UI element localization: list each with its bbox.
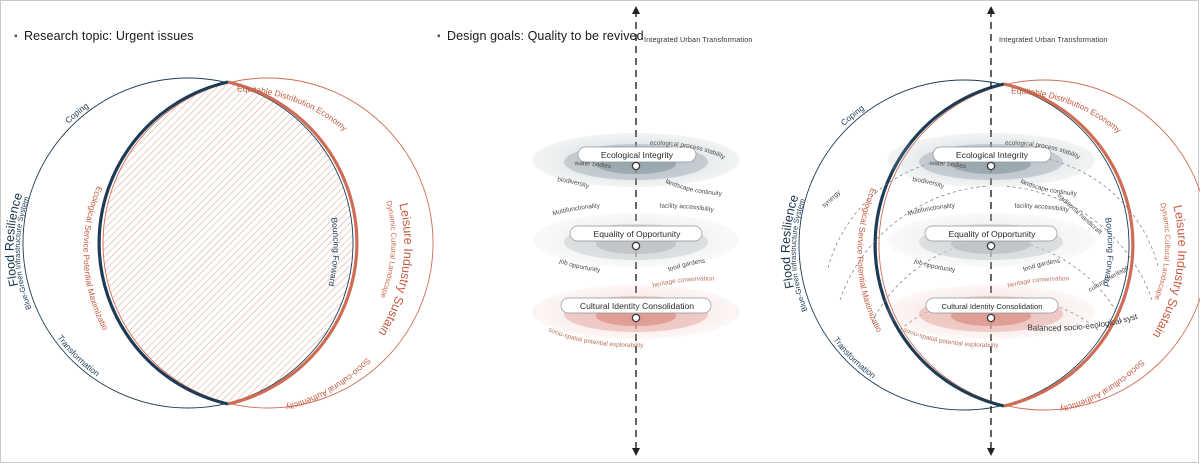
left-venn-diagram: Coping Bouncing Forward Transformation F… (0, 0, 433, 413)
right-label-multifunctionality: Multifunctionality (907, 202, 956, 217)
right-label-heritage-conservation: heritage conservation (1007, 276, 1070, 290)
axis-arrow-down-icon (632, 448, 640, 456)
cluster-title-ecological-integrity: Ecological Integrity (601, 150, 674, 160)
venn-intersection (103, 78, 433, 408)
cluster-node-dot (987, 242, 994, 249)
cluster-equality-of-opportunity: Equality of Opportunity Multifunctionali… (532, 202, 740, 274)
right-cluster-ecological-integrity: Ecological Integrity ecological process … (887, 133, 1095, 198)
cluster-title-cultural-identity-consolidation: Cultural Identity Consolidation (580, 301, 694, 311)
right-label-transformation: Transformation (831, 335, 877, 381)
axis-arrow-up-icon (632, 6, 640, 14)
axis-arrow-down-icon (987, 448, 995, 456)
right-cluster-title-cultural-identity-consolidation: Cultural Identity Consolidation (942, 302, 1043, 311)
right-cluster-equality-of-opportunity: Equality of Opportunity Multifunctionali… (887, 202, 1095, 274)
diagram-svg: Coping Bouncing Forward Transformation F… (0, 0, 1200, 464)
cluster-cultural-identity-consolidation: Cultural Identity Consolidation heritage… (532, 276, 740, 350)
label-multifunctionality: Multifunctionality (552, 202, 601, 217)
label-facility-accessibility: facility accessibility (659, 203, 715, 214)
label-heritage-conservation: heritage conservation (652, 276, 715, 290)
axis-arrow-up-icon (987, 6, 995, 14)
middle-cluster-diagram: Ecological Integrity ecological process … (532, 6, 740, 456)
right-cluster-title-equality-of-opportunity: Equality of Opportunity (949, 229, 1037, 239)
link-label-synergy: synergy (821, 189, 843, 210)
diagram-canvas: ▪Research topic: Urgent issues ▪Design g… (0, 0, 1200, 464)
label-transformation: Transformation (55, 333, 101, 379)
cluster-title-equality-of-opportunity: Equality of Opportunity (594, 229, 682, 239)
cluster-node-dot (987, 162, 994, 169)
right-cluster-cultural-identity-consolidation: Cultural Identity Consolidation heritage… (887, 276, 1095, 350)
cluster-node-dot (632, 162, 639, 169)
right-label-socio-cultural-authenticity: Socio-cultural Authenticity (1058, 358, 1147, 415)
label-dynamic-cultural-landscape: Dynamic Cultural Landscape (379, 200, 399, 300)
right-cluster-title-ecological-integrity: Ecological Integrity (956, 150, 1029, 160)
cluster-ecological-integrity: Ecological Integrity ecological process … (532, 133, 740, 198)
right-label-dynamic-cultural-landscape: Dynamic Cultural Landscape (1153, 202, 1173, 302)
cluster-node-dot (632, 242, 639, 249)
right-label-facility-accessibility: facility accessibility (1014, 203, 1070, 214)
cluster-node-dot (987, 314, 994, 321)
cluster-node-dot (632, 314, 639, 321)
